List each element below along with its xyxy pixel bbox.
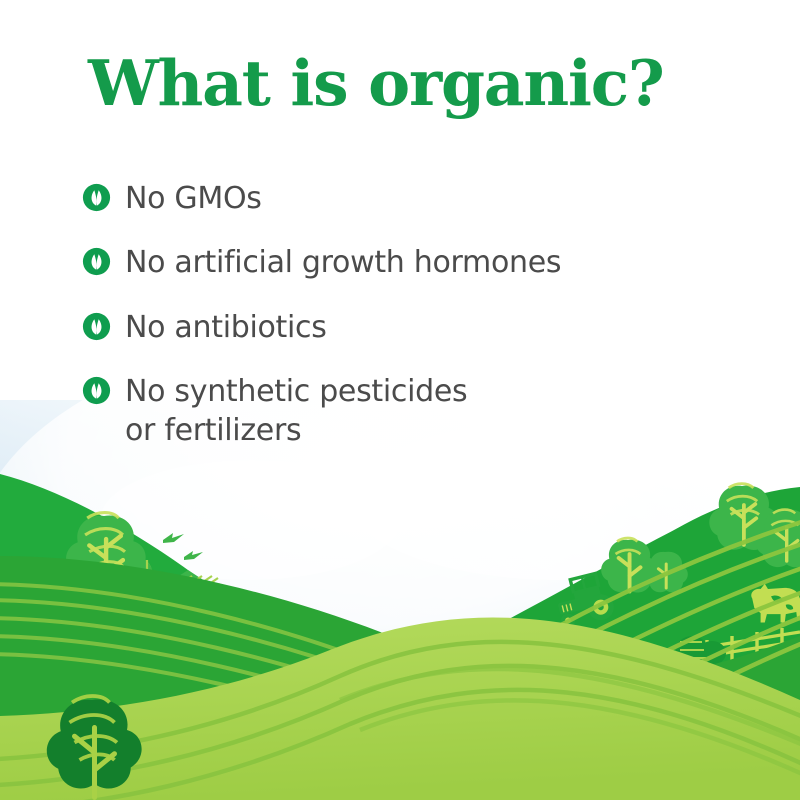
leaf-badge-icon [82, 247, 111, 276]
list-item-label: No synthetic pesticides or fertilizers [125, 373, 467, 450]
list-item: No synthetic pesticides or fertilizers [82, 373, 742, 450]
list-item-label: No artificial growth hormones [125, 244, 561, 282]
list-item-label: No antibiotics [125, 309, 327, 347]
leaf-badge-icon [82, 183, 111, 212]
leaf-badge-icon [82, 376, 111, 405]
leaf-badge-icon [82, 312, 111, 341]
list-item: No antibiotics [82, 309, 742, 347]
page-title: What is organic? [88, 52, 748, 115]
benefit-list: No GMOs No artificial growth hormones No… [82, 180, 742, 476]
list-item: No GMOs [82, 180, 742, 218]
list-item-label: No GMOs [125, 180, 262, 218]
organic-info-poster: What is organic? No GMOs No artificial g… [0, 0, 800, 800]
list-item: No artificial growth hormones [82, 244, 742, 282]
